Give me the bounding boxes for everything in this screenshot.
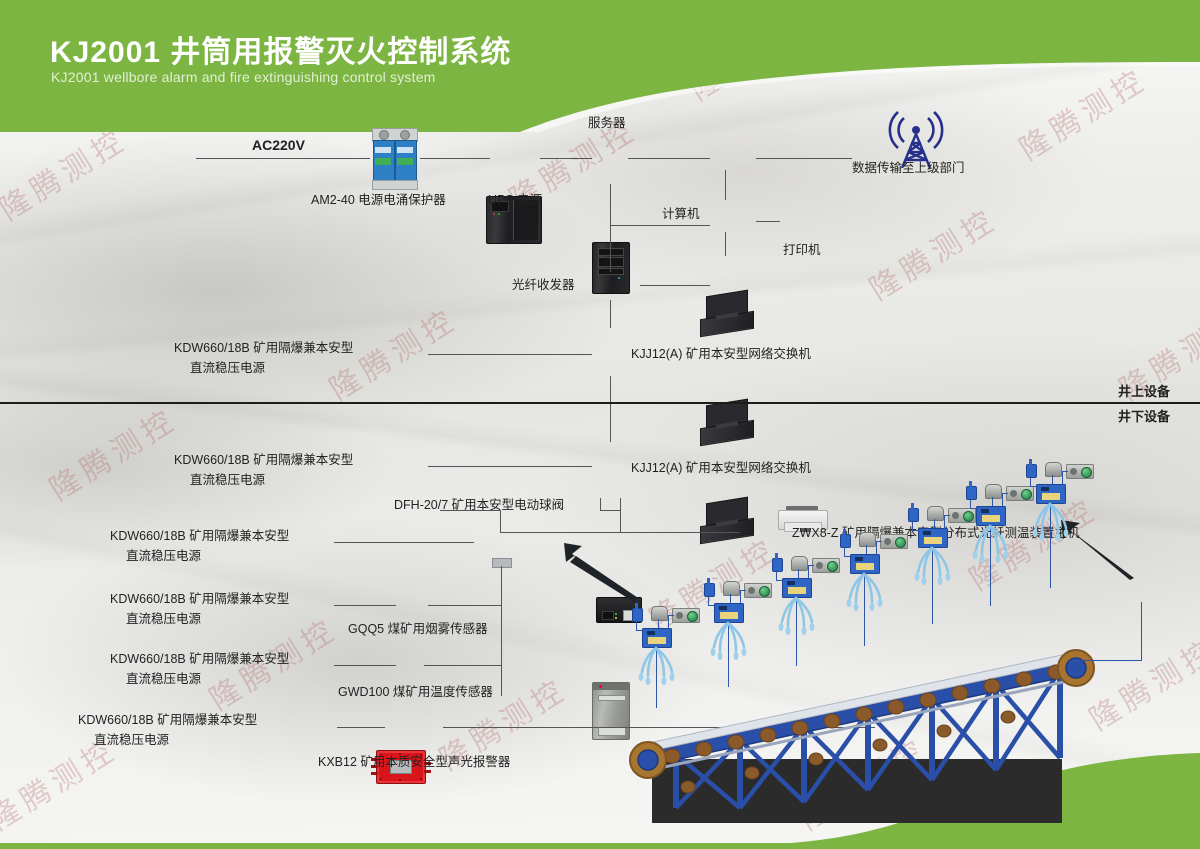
computer-device-2	[700, 402, 756, 448]
ug-power4-to-temp-line	[334, 665, 396, 666]
page-header: KJ2001 井筒用报警灭火控制系统 KJ2001 wellbore alarm…	[0, 0, 1200, 132]
surface-power-supply-label-line2: 直流稳压电源	[190, 360, 265, 377]
ac-bus-line-mid	[420, 158, 490, 159]
page-subtitle: KJ2001 wellbore alarm and fire extinguis…	[51, 69, 436, 85]
water-spray-icon	[970, 524, 1018, 564]
server-trunk-3	[610, 300, 611, 328]
ug-power-supply-3-label-line2: 直流稳压电源	[126, 611, 201, 628]
ug-power-supply-3-label-line1: KDW660/18B 矿用隔爆兼本安型	[110, 591, 289, 608]
smoke-to-riser-line	[428, 605, 501, 606]
water-spray-icon	[708, 621, 756, 661]
ug-power-supply-1-label-line2: 直流稳压电源	[190, 472, 265, 489]
pc2-to-pc3-line	[725, 232, 726, 256]
antenna-tower-icon	[884, 98, 948, 168]
ug-power2-to-valve-line	[334, 542, 474, 543]
below-ground-label: 井下设备	[1118, 408, 1170, 425]
zwx-host-link-line	[620, 532, 740, 533]
water-spray-icon	[776, 596, 824, 636]
uplink-label: 数据传输至上级部门	[852, 160, 965, 177]
ug-power-supply-5-label-line2: 直流稳压电源	[94, 732, 169, 749]
switch-to-zwx-feed-line	[500, 532, 620, 533]
surface-power-to-switch-line	[428, 354, 592, 355]
water-spray-icon	[1030, 502, 1078, 542]
printer-label: 打印机	[783, 242, 821, 259]
converter-to-pc3-line	[640, 285, 710, 286]
ac-bus-line-right	[540, 158, 592, 159]
diagram-page: 隆腾测控 隆腾测控 隆腾测控 隆腾测控 隆腾测控 隆腾测控 隆腾测控 隆腾测控 …	[0, 0, 1200, 849]
water-spray-icon	[844, 572, 892, 612]
surface-underground-divider	[0, 402, 1200, 404]
media-converter-label: 光纤收发器	[512, 277, 575, 294]
ups-label: UPS 电源	[488, 192, 542, 209]
ug-power5-to-alarm-line	[337, 727, 385, 728]
surface-power-supply-label-line1: KDW660/18B 矿用隔爆兼本安型	[174, 340, 353, 357]
surge-protector-label: AM2-40 电源电涌保护器	[311, 192, 446, 209]
sprinkler-node	[628, 600, 708, 710]
ug-power-supply-4-label-line1: KDW660/18B 矿用隔爆兼本安型	[110, 651, 289, 668]
ug-power-supply-5-label-line1: KDW660/18B 矿用隔爆兼本安型	[78, 712, 257, 729]
trunk-to-pc2-line	[610, 225, 710, 226]
server-to-pc1-line	[628, 158, 710, 159]
ug-power-supply-2-label-line2: 直流稳压电源	[126, 548, 201, 565]
computer-device-3	[700, 500, 756, 546]
server-device	[592, 242, 630, 294]
ug-power-supply-2-label-line1: KDW660/18B 矿用隔爆兼本安型	[110, 528, 289, 545]
ug-power1-to-switch-line	[428, 466, 592, 467]
temp-to-riser-line	[424, 665, 501, 666]
sound-light-alarm-label: KXB12 矿用本质安全型声光报警器	[318, 754, 510, 771]
ug-power-supply-4-label-line2: 直流稳压电源	[126, 671, 201, 688]
server-trunk-4	[610, 376, 611, 442]
surge-protector-device	[370, 128, 418, 188]
water-spray-icon	[912, 546, 960, 586]
pc1-to-uplink-line	[756, 158, 852, 159]
smoke-sensor-label: GQQ5 煤矿用烟雾传感器	[348, 621, 488, 638]
switch-down-left-line	[600, 498, 601, 510]
server-label: 服务器	[588, 115, 626, 132]
pointer-arrow-left	[546, 540, 638, 602]
ug-power-supply-1-label-line1: KDW660/18B 矿用隔爆兼本安型	[174, 452, 353, 469]
ac-bus-line-left	[196, 158, 370, 159]
switch-bus-line	[600, 510, 620, 511]
pc2-to-printer-line	[756, 221, 780, 222]
switch-down-right-line	[620, 498, 621, 532]
server-trunk-2	[610, 225, 611, 272]
ball-valve-label: DFH-20/7 矿用本安型电动球阀	[394, 497, 564, 514]
computer-label: 计算机	[662, 206, 700, 223]
control-box-feed-down	[1141, 602, 1142, 660]
underground-switch-label: KJJ12(A) 矿用本安型网络交换机	[631, 460, 811, 477]
temperature-sensor-label: GWD100 煤矿用温度传感器	[338, 684, 493, 701]
page-title: KJ2001 井筒用报警灭火控制系统	[50, 27, 511, 71]
server-trunk-1	[610, 184, 611, 225]
surface-switch-label: KJJ12(A) 矿用本安型网络交换机	[631, 346, 811, 363]
computer-device-1	[700, 293, 756, 339]
valve-down-pipe	[501, 566, 502, 696]
above-ground-label: 井上设备	[1118, 383, 1170, 400]
sprinkler-node	[1022, 456, 1102, 566]
ug-power3-to-smoke-line	[334, 605, 396, 606]
ball-valve-stem	[492, 558, 512, 568]
water-spray-icon	[636, 646, 684, 686]
ac-input-label: AC220V	[252, 137, 305, 154]
pc1-to-pc2-line	[725, 170, 726, 200]
control-box-feed-left	[1072, 660, 1142, 661]
